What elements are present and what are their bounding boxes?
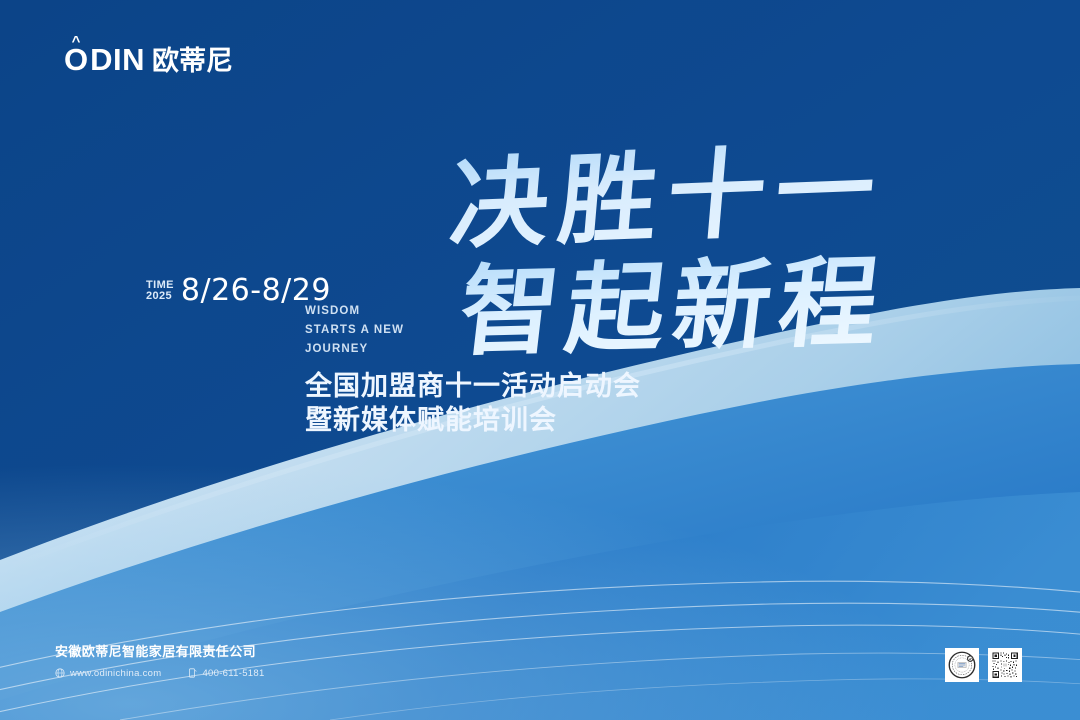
time-year: 2025 [146, 291, 174, 302]
circular-stamp-icon [947, 650, 977, 680]
website-text: www.odinichina.com [70, 668, 161, 679]
subtitle-line-2: 暨新媒体赋能培训会 [305, 404, 641, 438]
brand-logo: ^ O DIN 欧蒂尼 [64, 44, 233, 75]
headline-line-2: 智起新程 [453, 223, 895, 375]
event-subtitle: 全国加盟商十一活动启动会 暨新媒体赋能培训会 [305, 370, 641, 438]
logo-chinese-text: 欧蒂尼 [152, 48, 233, 75]
tagline-line-3: JOURNEY [305, 340, 404, 359]
footer-info: 安徽欧蒂尼智能家居有限责任公司 www.odinichina.com 400-6… [55, 645, 265, 679]
phone-item[interactable]: 400-611-5181 [187, 668, 264, 679]
circumflex-accent-icon: ^ [72, 34, 81, 49]
tagline-line-2: STARTS A NEW [305, 321, 404, 340]
english-tagline: WISDOM STARTS A NEW JOURNEY [305, 302, 404, 359]
time-label-stack: TIME 2025 [146, 280, 174, 302]
wechat-official-badge[interactable] [945, 648, 979, 682]
phone-icon [187, 668, 197, 678]
event-poster: ^ O DIN 欧蒂尼 决胜十一 智起新程 TIME 2025 8/26-8/2… [0, 0, 1080, 720]
company-name: 安徽欧蒂尼智能家居有限责任公司 [55, 645, 265, 661]
subtitle-line-1: 全国加盟商十一活动启动会 [305, 370, 641, 404]
logo-letter-o: ^ O [64, 44, 88, 75]
qr-code[interactable] [988, 648, 1022, 682]
website-item[interactable]: www.odinichina.com [55, 668, 161, 679]
tagline-line-1: WISDOM [305, 302, 404, 321]
globe-icon [55, 668, 65, 678]
logo-din-text: DIN [90, 44, 145, 75]
code-group [945, 648, 1022, 682]
phone-text: 400-611-5181 [202, 668, 264, 679]
event-date-block: TIME 2025 8/26-8/29 [146, 276, 331, 306]
qr-code-icon [990, 650, 1020, 680]
contact-row: www.odinichina.com 400-611-5181 [55, 668, 265, 679]
